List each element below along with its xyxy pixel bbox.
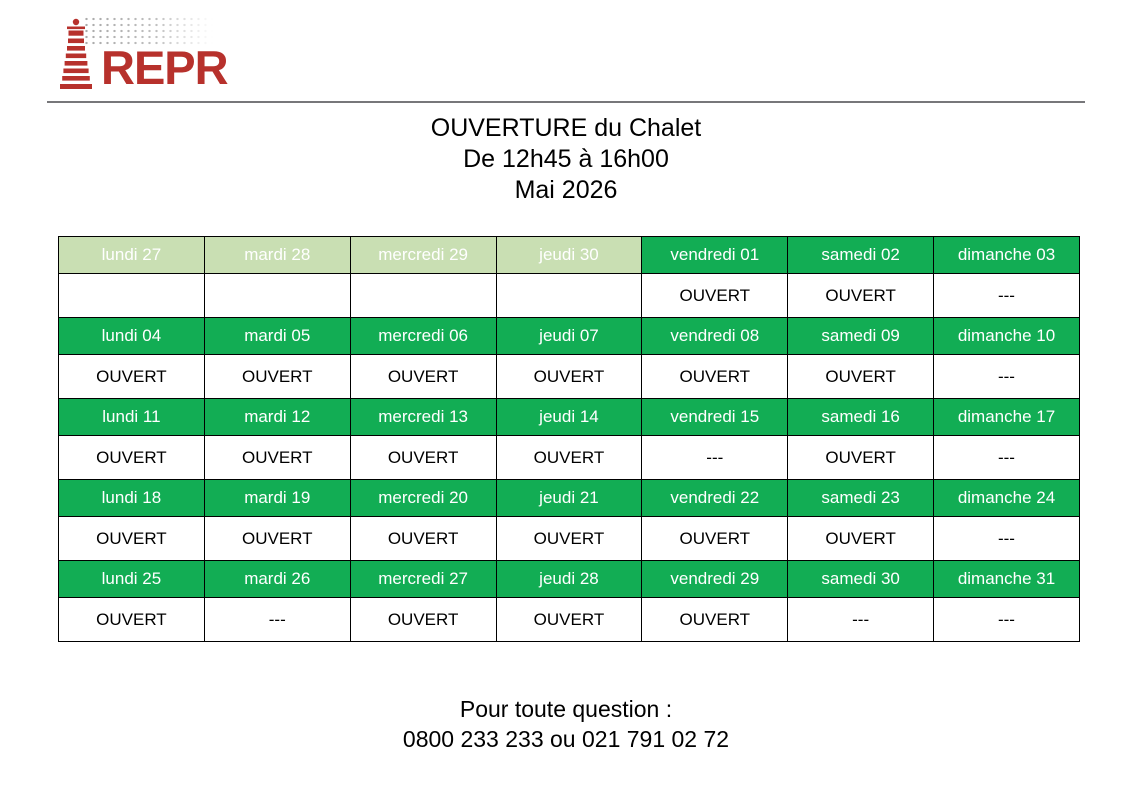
calendar-status-cell: OUVERT	[350, 436, 496, 480]
calendar-status-cell: OUVERT	[59, 517, 205, 561]
title-line-2: De 12h45 à 16h00	[0, 144, 1132, 175]
calendar-status-cell: OUVERT	[204, 517, 350, 561]
calendar-status-cell: OUVERT	[642, 274, 788, 318]
calendar-status-cell: ---	[934, 436, 1080, 480]
calendar-status-row: OUVERTOUVERT---	[59, 274, 1080, 318]
calendar-status-cell: OUVERT	[496, 355, 642, 399]
calendar-day-header-cell: jeudi 21	[496, 480, 642, 517]
calendar-day-header-cell: lundi 18	[59, 480, 205, 517]
brand-logo: REPR	[47, 8, 217, 96]
calendar-status-cell: OUVERT	[204, 436, 350, 480]
calendar-status-cell: ---	[934, 355, 1080, 399]
title-line-1: OUVERTURE du Chalet	[0, 113, 1132, 144]
calendar-status-cell: OUVERT	[59, 598, 205, 642]
calendar-status-cell: ---	[204, 598, 350, 642]
calendar-status-cell: OUVERT	[788, 517, 934, 561]
calendar-status-cell: OUVERT	[788, 355, 934, 399]
calendar-day-header-cell: vendredi 29	[642, 561, 788, 598]
calendar-day-header-row: lundi 04mardi 05mercredi 06jeudi 07vendr…	[59, 318, 1080, 355]
calendar-day-header-row: lundi 11mardi 12mercredi 13jeudi 14vendr…	[59, 399, 1080, 436]
calendar-day-header-cell: vendredi 22	[642, 480, 788, 517]
calendar-status-cell: OUVERT	[642, 517, 788, 561]
calendar-day-header-cell: lundi 04	[59, 318, 205, 355]
calendar-day-header-cell: lundi 25	[59, 561, 205, 598]
calendar-day-header-cell: mardi 28	[204, 237, 350, 274]
calendar-status-cell: OUVERT	[204, 355, 350, 399]
calendar-status-cell: OUVERT	[642, 598, 788, 642]
calendar-day-header-cell: vendredi 15	[642, 399, 788, 436]
calendar-status-cell: ---	[934, 517, 1080, 561]
calendar-day-header-cell: mercredi 27	[350, 561, 496, 598]
calendar-day-header-cell: dimanche 17	[934, 399, 1080, 436]
calendar-status-cell: OUVERT	[642, 355, 788, 399]
calendar-status-cell: OUVERT	[496, 517, 642, 561]
calendar-day-header-cell: mardi 05	[204, 318, 350, 355]
calendar-status-cell: OUVERT	[496, 436, 642, 480]
footer-line-1: Pour toute question :	[0, 694, 1132, 724]
calendar-status-row: OUVERTOUVERTOUVERTOUVERTOUVERTOUVERT---	[59, 517, 1080, 561]
calendar-day-header-row: lundi 25mardi 26mercredi 27jeudi 28vendr…	[59, 561, 1080, 598]
calendar-day-header-cell: mercredi 13	[350, 399, 496, 436]
calendar-status-row: OUVERTOUVERTOUVERTOUVERT---OUVERT---	[59, 436, 1080, 480]
opening-hours-calendar: lundi 27mardi 28mercredi 29jeudi 30vendr…	[58, 236, 1080, 642]
calendar-status-cell: OUVERT	[496, 598, 642, 642]
page-title: OUVERTURE du Chalet De 12h45 à 16h00 Mai…	[0, 113, 1132, 206]
calendar-day-header-cell: jeudi 14	[496, 399, 642, 436]
brand-name: REPR	[101, 44, 228, 91]
calendar-day-header-cell: samedi 02	[788, 237, 934, 274]
calendar-day-header-cell: samedi 09	[788, 318, 934, 355]
calendar-day-header-cell: lundi 27	[59, 237, 205, 274]
calendar-day-header-cell: mercredi 29	[350, 237, 496, 274]
calendar-day-header-cell: dimanche 10	[934, 318, 1080, 355]
footer-line-2: 0800 233 233 ou 021 791 02 72	[0, 724, 1132, 754]
calendar-status-cell: ---	[934, 274, 1080, 318]
calendar-day-header-cell: vendredi 08	[642, 318, 788, 355]
calendar-status-cell: ---	[642, 436, 788, 480]
calendar-day-header-cell: lundi 11	[59, 399, 205, 436]
calendar-status-cell	[350, 274, 496, 318]
calendar-day-header-cell: mardi 26	[204, 561, 350, 598]
calendar-day-header-row: lundi 27mardi 28mercredi 29jeudi 30vendr…	[59, 237, 1080, 274]
calendar-day-header-cell: dimanche 24	[934, 480, 1080, 517]
calendar-day-header-cell: jeudi 28	[496, 561, 642, 598]
calendar-day-header-cell: samedi 23	[788, 480, 934, 517]
calendar-day-header-cell: samedi 16	[788, 399, 934, 436]
header-divider	[47, 101, 1085, 103]
calendar-day-header-cell: mardi 12	[204, 399, 350, 436]
calendar-status-cell: OUVERT	[59, 436, 205, 480]
calendar-status-cell	[496, 274, 642, 318]
calendar-status-row: OUVERT---OUVERTOUVERTOUVERT------	[59, 598, 1080, 642]
calendar-day-header-cell: dimanche 03	[934, 237, 1080, 274]
calendar-day-header-row: lundi 18mardi 19mercredi 20jeudi 21vendr…	[59, 480, 1080, 517]
calendar-day-header-cell: vendredi 01	[642, 237, 788, 274]
calendar-status-cell	[59, 274, 205, 318]
calendar-status-cell	[204, 274, 350, 318]
calendar-status-cell: OUVERT	[350, 355, 496, 399]
calendar-status-cell: OUVERT	[788, 274, 934, 318]
calendar-status-cell: OUVERT	[788, 436, 934, 480]
calendar-day-header-cell: jeudi 07	[496, 318, 642, 355]
calendar-day-header-cell: mardi 19	[204, 480, 350, 517]
calendar-status-cell: OUVERT	[59, 355, 205, 399]
calendar-status-cell: OUVERT	[350, 517, 496, 561]
calendar-status-cell: ---	[788, 598, 934, 642]
calendar-day-header-cell: samedi 30	[788, 561, 934, 598]
title-line-3: Mai 2026	[0, 175, 1132, 206]
calendar-day-header-cell: jeudi 30	[496, 237, 642, 274]
calendar-status-cell: OUVERT	[350, 598, 496, 642]
calendar-day-header-cell: dimanche 31	[934, 561, 1080, 598]
calendar-day-header-cell: mercredi 06	[350, 318, 496, 355]
calendar-status-cell: ---	[934, 598, 1080, 642]
calendar-day-header-cell: mercredi 20	[350, 480, 496, 517]
calendar-status-row: OUVERTOUVERTOUVERTOUVERTOUVERTOUVERT---	[59, 355, 1080, 399]
contact-footer: Pour toute question : 0800 233 233 ou 02…	[0, 694, 1132, 754]
